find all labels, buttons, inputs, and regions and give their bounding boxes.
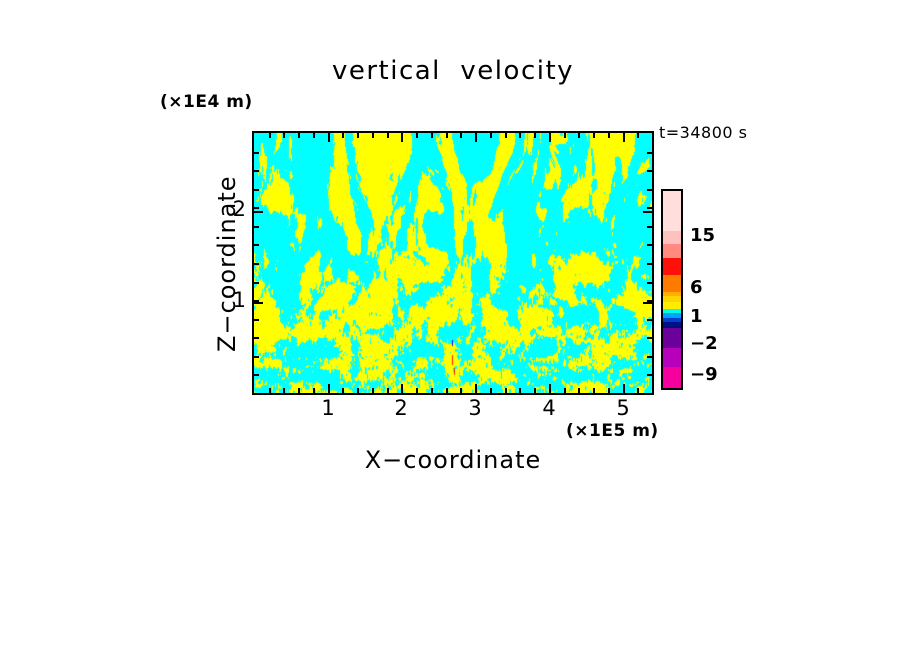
x-major-tick xyxy=(623,133,625,142)
x-minor-tick xyxy=(357,388,359,393)
x-major-tick xyxy=(549,133,551,142)
y-major-tick xyxy=(643,211,652,213)
x-major-tick xyxy=(549,384,551,393)
colorbar-band xyxy=(663,258,681,275)
x-tick-label: 5 xyxy=(608,396,638,420)
x-minor-tick xyxy=(490,388,492,393)
x-minor-tick xyxy=(637,133,639,138)
x-major-tick xyxy=(401,133,403,142)
x-minor-tick xyxy=(593,388,595,393)
x-axis-unit-label: (×1E5 m) xyxy=(566,421,659,441)
y-axis-unit-label: (×1E4 m) xyxy=(160,92,253,112)
x-minor-tick xyxy=(387,133,389,138)
y-minor-tick xyxy=(647,244,652,246)
y-minor-tick xyxy=(647,152,652,154)
y-minor-tick xyxy=(254,226,259,228)
plot-area xyxy=(252,131,654,395)
x-minor-tick xyxy=(564,133,566,138)
y-minor-tick xyxy=(254,170,259,172)
x-minor-tick xyxy=(505,133,507,138)
colorbar xyxy=(661,189,683,390)
x-tick-label: 2 xyxy=(386,396,416,420)
y-minor-tick xyxy=(647,282,652,284)
x-minor-tick xyxy=(372,133,374,138)
x-tick-label: 4 xyxy=(534,396,564,420)
x-minor-tick xyxy=(416,388,418,393)
x-minor-tick xyxy=(431,133,433,138)
x-minor-tick xyxy=(578,133,580,138)
x-minor-tick xyxy=(564,388,566,393)
x-minor-tick xyxy=(313,388,315,393)
x-minor-tick xyxy=(283,388,285,393)
colorbar-tick-label: 15 xyxy=(690,225,715,246)
x-minor-tick xyxy=(416,133,418,138)
colorbar-band xyxy=(663,275,681,292)
colorbar-tick-label: −2 xyxy=(690,333,718,354)
x-major-tick xyxy=(475,133,477,142)
x-minor-tick xyxy=(387,388,389,393)
y-minor-tick xyxy=(647,374,652,376)
y-minor-tick xyxy=(647,207,652,209)
y-minor-tick xyxy=(254,207,259,209)
x-minor-tick xyxy=(534,133,536,138)
colorbar-tick-label: −9 xyxy=(690,364,718,385)
y-minor-tick xyxy=(647,170,652,172)
x-minor-tick xyxy=(519,388,521,393)
x-minor-tick xyxy=(593,133,595,138)
colorbar-tick-label: 1 xyxy=(690,306,703,327)
colorbar-band xyxy=(663,191,681,231)
figure-canvas: vertical velocity (×1E4 m) t=34800 s X−c… xyxy=(0,0,904,654)
x-minor-tick xyxy=(283,133,285,138)
x-minor-tick xyxy=(534,388,536,393)
x-minor-tick xyxy=(313,133,315,138)
colorbar-tick-label: 6 xyxy=(690,277,703,298)
x-major-tick xyxy=(623,384,625,393)
x-minor-tick xyxy=(578,388,580,393)
x-minor-tick xyxy=(608,388,610,393)
x-minor-tick xyxy=(269,388,271,393)
y-minor-tick xyxy=(254,152,259,154)
x-minor-tick xyxy=(460,133,462,138)
x-minor-tick xyxy=(372,388,374,393)
y-tick-label: 2 xyxy=(218,197,246,221)
y-minor-tick xyxy=(647,337,652,339)
x-axis-title: X−coordinate xyxy=(252,446,654,474)
x-major-tick xyxy=(328,133,330,142)
x-tick-label: 3 xyxy=(460,396,490,420)
y-minor-tick xyxy=(254,356,259,358)
x-minor-tick xyxy=(608,133,610,138)
colorbar-band xyxy=(663,367,681,388)
x-minor-tick xyxy=(446,133,448,138)
colorbar-band xyxy=(663,348,681,366)
y-major-tick xyxy=(254,211,263,213)
x-minor-tick xyxy=(637,388,639,393)
y-major-tick xyxy=(643,302,652,304)
time-stamp-annotation: t=34800 s xyxy=(659,123,748,142)
y-minor-tick xyxy=(647,319,652,321)
y-minor-tick xyxy=(647,356,652,358)
y-major-tick xyxy=(254,302,263,304)
x-minor-tick xyxy=(298,133,300,138)
x-minor-tick xyxy=(505,388,507,393)
y-minor-tick xyxy=(254,374,259,376)
x-minor-tick xyxy=(342,133,344,138)
colorbar-band xyxy=(663,328,681,348)
colorbar-band xyxy=(663,231,681,245)
y-minor-tick xyxy=(647,189,652,191)
y-minor-tick xyxy=(254,337,259,339)
x-major-tick xyxy=(328,384,330,393)
x-minor-tick xyxy=(357,133,359,138)
page-title: vertical velocity xyxy=(252,56,654,86)
x-minor-tick xyxy=(431,388,433,393)
x-tick-label: 1 xyxy=(313,396,343,420)
y-tick-label: 1 xyxy=(218,288,246,312)
y-minor-tick xyxy=(254,319,259,321)
x-minor-tick xyxy=(446,388,448,393)
y-minor-tick xyxy=(254,244,259,246)
x-minor-tick xyxy=(519,133,521,138)
y-minor-tick xyxy=(647,263,652,265)
y-minor-tick xyxy=(647,226,652,228)
y-minor-tick xyxy=(254,189,259,191)
x-minor-tick xyxy=(269,133,271,138)
x-minor-tick xyxy=(490,133,492,138)
x-minor-tick xyxy=(460,388,462,393)
x-minor-tick xyxy=(342,388,344,393)
y-minor-tick xyxy=(254,282,259,284)
y-minor-tick xyxy=(254,263,259,265)
x-minor-tick xyxy=(298,388,300,393)
velocity-field-heatmap xyxy=(254,133,652,393)
x-major-tick xyxy=(475,384,477,393)
x-major-tick xyxy=(401,384,403,393)
colorbar-band xyxy=(663,244,681,258)
